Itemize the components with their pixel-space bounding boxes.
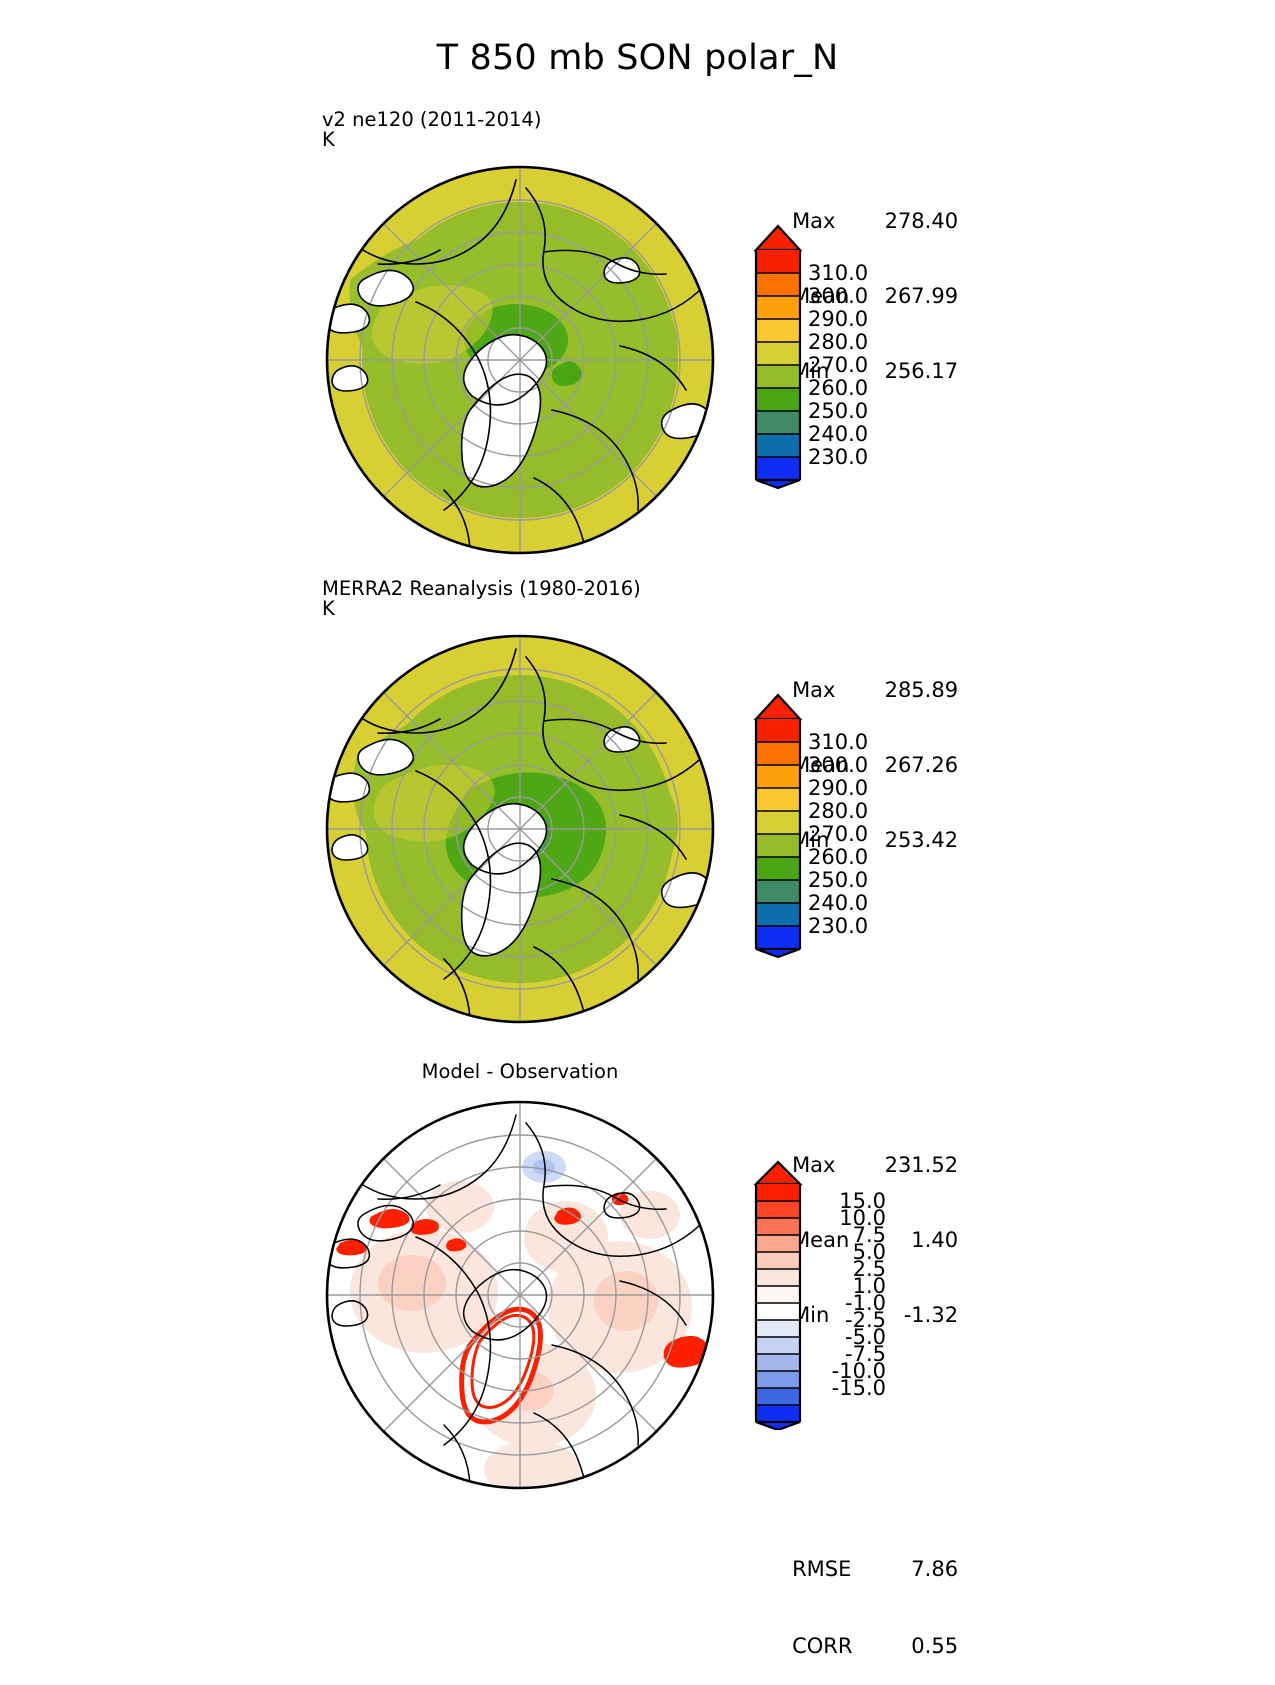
stats-row: Max231.52 — [752, 1128, 958, 1153]
cb-tick-label: 300.0 — [808, 284, 868, 308]
panel-observation-title: MERRA2 Reanalysis (1980-2016) — [322, 577, 641, 600]
panel-difference-title: Model - Observation — [325, 1060, 715, 1083]
polar-map-difference — [320, 1095, 720, 1495]
panel-observation-units: K — [322, 597, 335, 620]
cb-tick-label: 240.0 — [808, 891, 868, 915]
polar-map-observation — [320, 629, 720, 1029]
colorbar-temperature-model: 310.0 300.0 290.0 280.0 270.0 260.0 250.… — [752, 222, 804, 492]
cb-tick-label: 280.0 — [808, 799, 868, 823]
stats-value: 267.26 — [870, 753, 958, 778]
stats-value: 278.40 — [870, 209, 958, 234]
cb-tick-label: 260.0 — [808, 376, 868, 400]
cb-tick-label: 240.0 — [808, 422, 868, 446]
stats-row: Max285.89 — [752, 653, 958, 678]
stats-label: RMSE — [792, 1556, 870, 1582]
stats-row: RMSE7.86 — [752, 1530, 958, 1555]
cb-tick-label: 310.0 — [808, 261, 868, 285]
cb-tick-label: -15.0 — [808, 1376, 886, 1400]
cb-tick-label: 230.0 — [808, 445, 868, 469]
figure-title: T 850 mb SON polar_N — [0, 38, 1275, 78]
cb-tick-label: 290.0 — [808, 776, 868, 800]
cb-tick-label: 250.0 — [808, 868, 868, 892]
stats-value: 0.55 — [870, 1633, 958, 1659]
cb-tick-label: 290.0 — [808, 307, 868, 331]
stats-label: CORR — [792, 1633, 870, 1659]
cb-tick-label: 270.0 — [808, 822, 868, 846]
colorbar-temperature-observation: 310.0 300.0 290.0 280.0 270.0 260.0 250.… — [752, 691, 804, 961]
stats-row: CORR0.55 — [752, 1607, 958, 1632]
stats-value: 267.99 — [870, 284, 958, 309]
polar-map-model — [320, 160, 720, 560]
cb-tick-label: 270.0 — [808, 353, 868, 377]
cb-tick-label: 260.0 — [808, 845, 868, 869]
cb-tick-label: 310.0 — [808, 730, 868, 754]
cb-tick-label: 230.0 — [808, 914, 868, 938]
panel-model-title: v2 ne120 (2011-2014) — [322, 108, 541, 131]
stats-value: 256.17 — [870, 359, 958, 384]
stats-value: 231.52 — [870, 1153, 958, 1178]
cb-tick-label: 280.0 — [808, 330, 868, 354]
stats-value: 7.86 — [870, 1556, 958, 1582]
panel-model-units: K — [322, 128, 335, 151]
panel-difference-footer-stats: RMSE7.86 CORR0.55 — [752, 1478, 958, 1684]
stats-value: 285.89 — [870, 678, 958, 703]
stats-row: Max278.40 — [752, 184, 958, 209]
cb-tick-label: 300.0 — [808, 753, 868, 777]
cb-tick-label: 250.0 — [808, 399, 868, 423]
stats-value: 253.42 — [870, 828, 958, 853]
colorbar-difference: 15.0 10.0 7.5 5.0 2.5 1.0 -1.0 -2.5 -5.0… — [752, 1160, 804, 1430]
